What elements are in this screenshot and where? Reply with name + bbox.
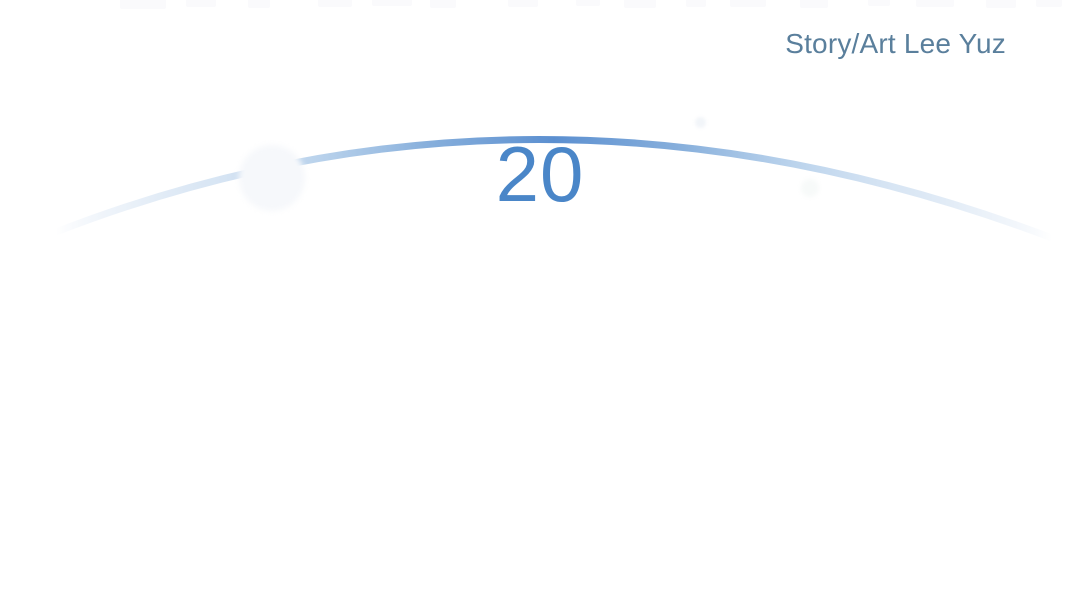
comic-chapter-title-page: 20 Story/Art Lee Yuz bbox=[0, 0, 1080, 600]
decorative-arc bbox=[0, 0, 1080, 600]
chapter-number: 20 bbox=[0, 135, 1080, 213]
story-art-credit: Story/Art Lee Yuz bbox=[785, 30, 1006, 58]
